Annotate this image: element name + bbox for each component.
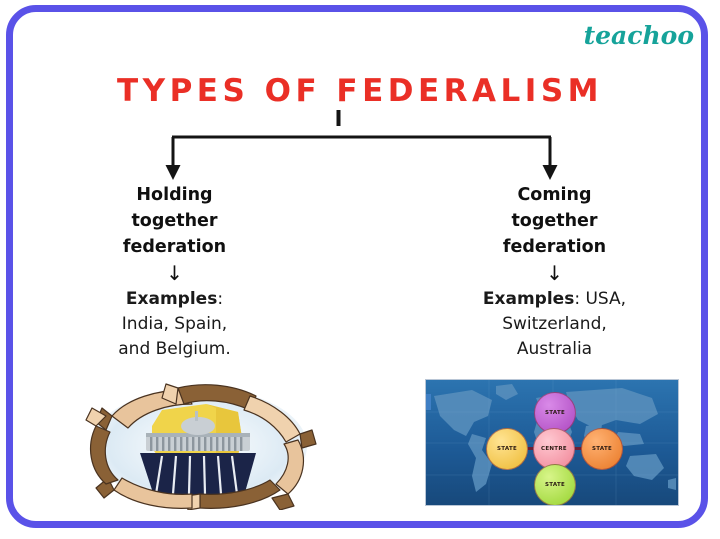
branch-right-heading-line2: together: [452, 208, 657, 234]
branch-right-examples-label: Examples: [483, 289, 574, 309]
branch-right-heading-line3: federation: [452, 234, 657, 260]
tree-connector: [0, 108, 720, 184]
branch-right-examples-colon: :: [574, 289, 580, 309]
branch-left-down-arrow-icon: ↓: [72, 261, 277, 285]
branch-left-heading: Holding together federation: [72, 182, 277, 260]
branch-left-examples-colon: :: [217, 289, 223, 309]
slide-canvas: teachoo TYPES OF FEDERALISM Holding toge…: [0, 0, 720, 539]
teachoo-logo: teachoo: [584, 21, 694, 50]
branch-left-examples: Examples: India, Spain, and Belgium.: [72, 287, 277, 362]
branch-coming-together: Coming together federation ↓ Examples: U…: [452, 182, 657, 362]
branch-right-heading-line1: Coming: [452, 182, 657, 208]
branch-left-heading-line2: together: [72, 208, 277, 234]
branch-left-heading-line3: federation: [72, 234, 277, 260]
branch-left-heading-line1: Holding: [72, 182, 277, 208]
branch-right-examples-line2: Switzerland,: [452, 312, 657, 337]
node-state-right: STATE: [581, 428, 623, 470]
world-map-panel: STATE STATE CENTRE STATE STATE: [425, 379, 679, 506]
branch-right-examples: Examples: USA, Switzerland, Australia: [452, 287, 657, 362]
node-state-left: STATE: [486, 428, 528, 470]
tree-right-arrowhead: [543, 165, 558, 180]
branch-left-examples-line2: and Belgium.: [72, 337, 277, 362]
hands-clasped-illustration: [66, 378, 332, 510]
world-map-federation-diagram: STATE STATE CENTRE STATE STATE: [417, 376, 679, 509]
branch-right-down-arrow-icon: ↓: [452, 261, 657, 285]
branch-left-examples-label: Examples: [126, 289, 217, 309]
branch-right-examples-inline: USA,: [585, 289, 626, 309]
page-title: TYPES OF FEDERALISM: [0, 73, 720, 109]
branch-holding-together: Holding together federation ↓ Examples: …: [72, 182, 277, 362]
branch-left-examples-label-row: Examples:: [72, 287, 277, 312]
map-edge-artifact: [426, 394, 431, 410]
tree-left-arrowhead: [166, 165, 181, 180]
branch-left-examples-line1: India, Spain,: [72, 312, 277, 337]
parliament-motif: [140, 404, 256, 496]
branch-right-examples-line3: Australia: [452, 337, 657, 362]
branch-right-heading: Coming together federation: [452, 182, 657, 260]
branch-right-examples-label-row: Examples: USA,: [452, 287, 657, 312]
node-state-bottom: STATE: [534, 464, 576, 506]
